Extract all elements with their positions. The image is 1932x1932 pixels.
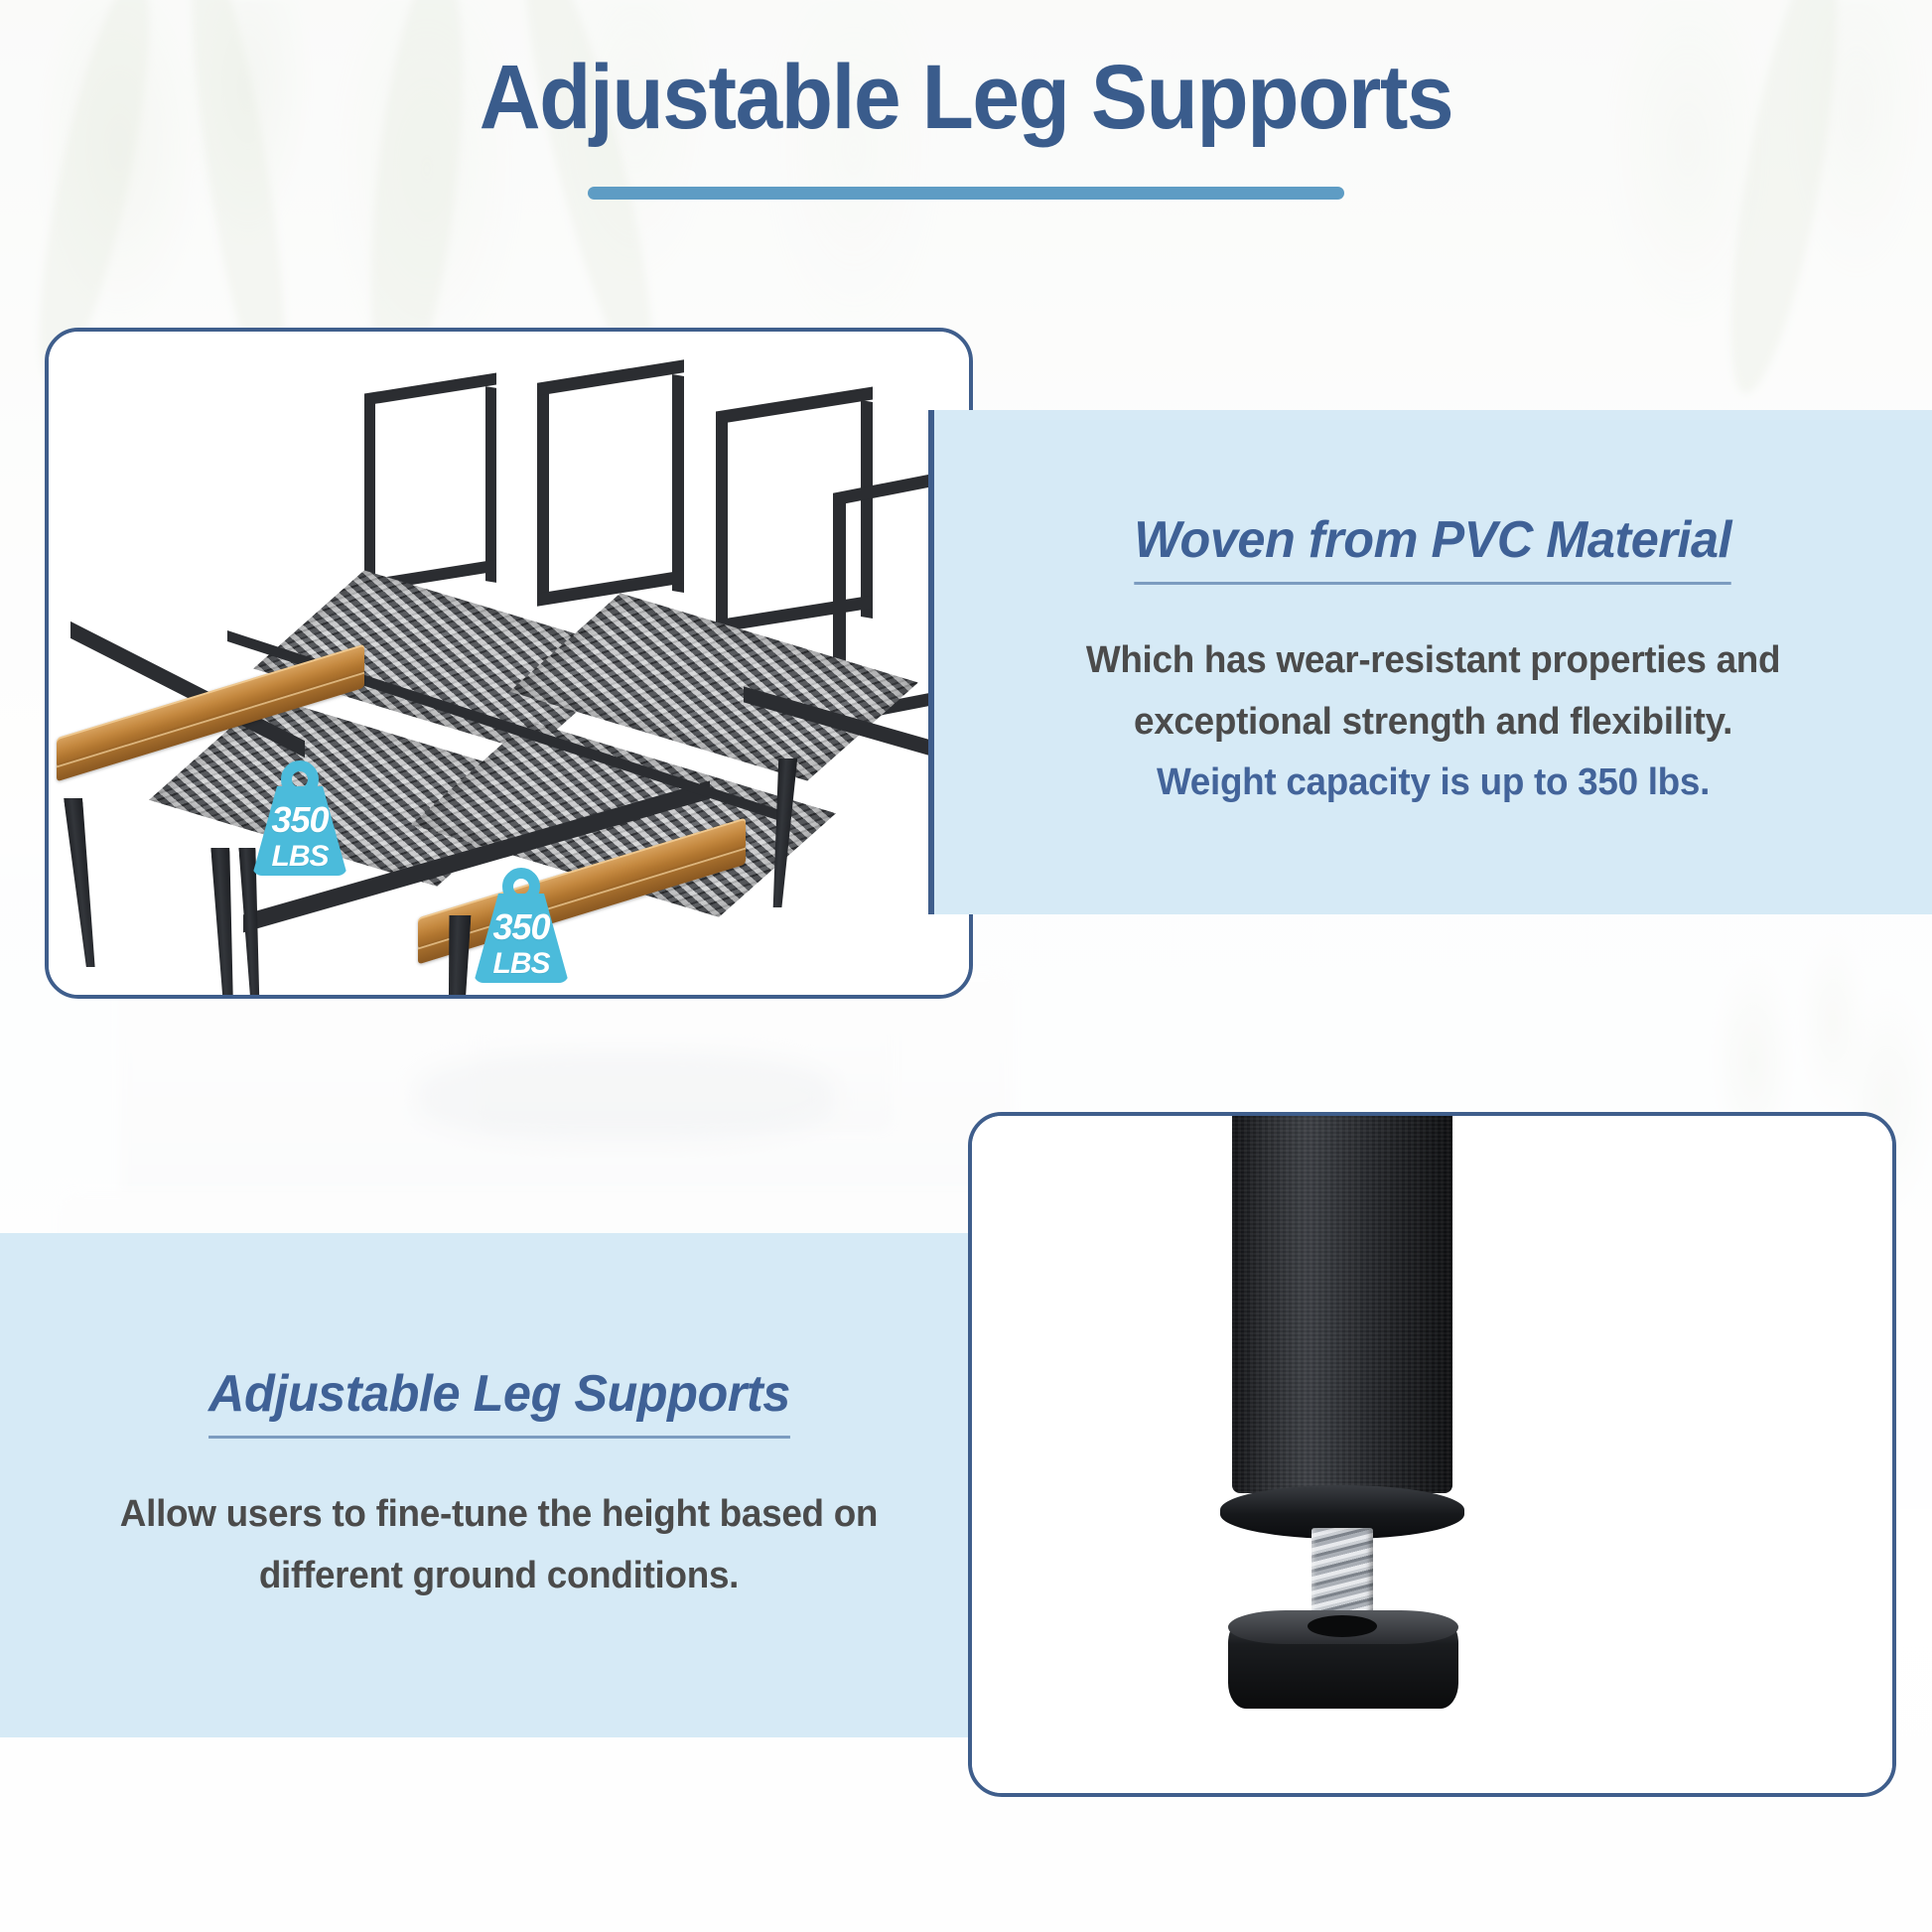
leg-mid-left [210,848,238,999]
pvc-panel-content: Woven from PVC Material Which has wear-r… [934,410,1932,914]
backrest-panel-1-top [364,372,496,405]
weight-badge-2-text: 350 LBS [474,909,569,979]
adjustable-leg-photo [972,1116,1892,1793]
backrest-panel-2-top [537,359,684,395]
legs-panel-line-2: different ground conditions. [120,1546,878,1607]
weight-badge-1-text: 350 LBS [252,802,347,872]
infographic-page: Adjustable Leg Supports [0,0,1932,1932]
backrest-panel-3-left [716,416,728,628]
weight-badge-2-unit: LBS [474,949,569,979]
daybed-frame-photo-card: 350 LBS 350 LBS [45,328,973,999]
pvc-panel-heading: Woven from PVC Material [1135,510,1732,585]
weight-badge-2: 350 LBS [474,868,569,983]
page-header: Adjustable Leg Supports [0,0,1932,228]
weight-badge-2-value: 350 [474,909,569,945]
backrest-panel-3-right [861,400,873,619]
legs-panel-body: Allow users to fine-tune the height base… [108,1484,890,1606]
leg-base-pad-hole [1308,1615,1377,1637]
title-underline-rule [588,187,1344,200]
backrest-panel-3-top [716,386,873,424]
pvc-panel-body: Which has wear-resistant properties and … [1075,630,1791,814]
pvc-material-panel: Woven from PVC Material Which has wear-r… [928,410,1932,914]
backrest-panel-1-right [485,386,496,583]
legs-panel-line-1: Allow users to fine-tune the height base… [120,1484,878,1546]
backrest-panel-2-left [537,388,549,601]
backrest-panel-1-left [364,398,375,589]
weight-badge-1: 350 LBS [252,760,347,876]
page-title: Adjustable Leg Supports [68,46,1864,150]
pvc-panel-line-2: exceptional strength and flexibility. [1086,692,1780,754]
armrest-right-top [833,472,942,505]
legs-panel-content: Adjustable Leg Supports Allow users to f… [0,1233,998,1737]
adjustable-legs-panel: Adjustable Leg Supports Allow users to f… [0,1233,1004,1737]
leg-tube [1232,1112,1452,1493]
pvc-panel-line-1: Which has wear-resistant properties and [1086,630,1780,692]
adjustable-leg-photo-card [968,1112,1896,1797]
weight-badge-1-value: 350 [252,802,347,838]
pvc-panel-line-3: Weight capacity is up to 350 lbs. [1086,753,1780,814]
backrest-panel-2-right [672,374,684,593]
backrest-panel-3-bottom [716,595,873,632]
daybed-frame-photo: 350 LBS 350 LBS [49,332,969,995]
weight-badge-1-unit: LBS [252,842,347,872]
leg-front-left [64,798,100,967]
legs-panel-heading: Adjustable Leg Supports [208,1364,790,1439]
